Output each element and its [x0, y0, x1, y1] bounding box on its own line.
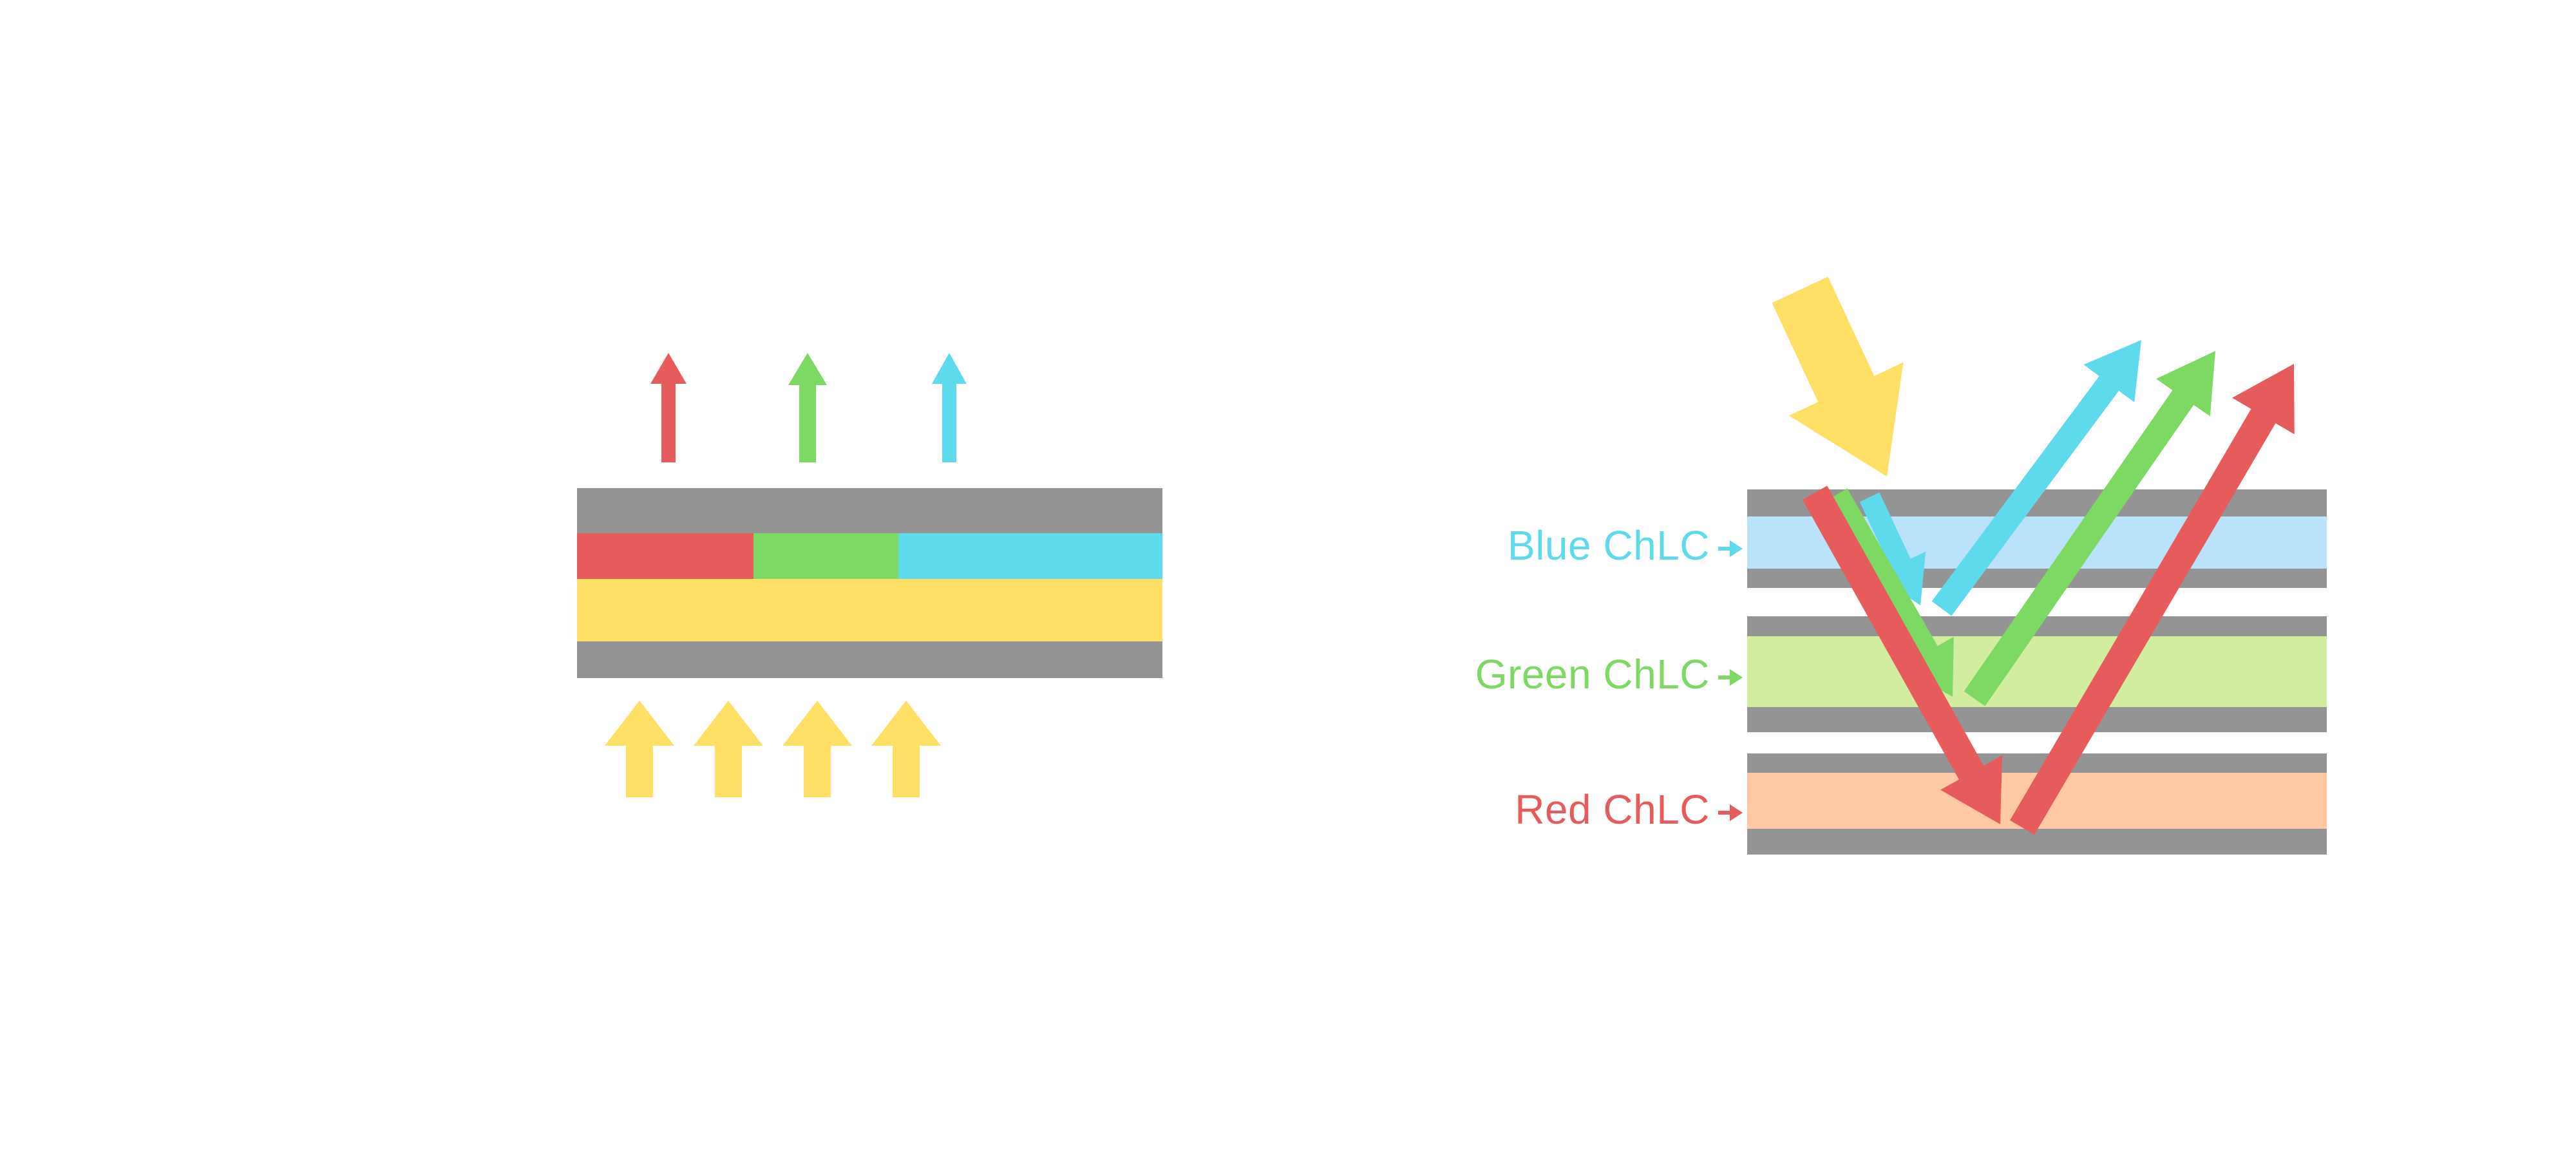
backlight-input-arrows-1	[605, 701, 674, 797]
blue-chlc-label-pointer-arrowhead	[1730, 540, 1743, 557]
layer-green-bottom-electrode	[1747, 707, 2327, 732]
layer-red-top-electrode	[1747, 753, 2327, 773]
layer-top-electrode	[577, 488, 1162, 533]
right-reflective-stack-panel	[1747, 277, 2327, 855]
green-chlc-label-pointer-arrowhead	[1730, 669, 1743, 686]
ambient-light-incident-arrow	[1772, 277, 1903, 477]
layer-green-chlc-layer	[1747, 636, 2327, 707]
backlight-input-arrows-4	[871, 701, 941, 797]
diagram-canvas: Blue ChLCGreen ChLCRed ChLC	[0, 0, 2576, 1154]
layer-label-group: Blue ChLCGreen ChLCRed ChLC	[1475, 522, 1743, 833]
layer-bottom-electrode	[577, 641, 1162, 678]
blue-chlc-label: Blue ChLC	[1508, 522, 1710, 569]
red-chlc-label: Red ChLC	[1515, 786, 1710, 833]
layer-color-filter-green	[753, 533, 898, 579]
layer-color-filter-red	[577, 533, 753, 579]
red-output-arrow	[650, 353, 687, 462]
layer-blue-bottom-electrode	[1747, 569, 2327, 588]
left-transmissive-stack-panel	[577, 353, 1162, 797]
layer-backlight-layer	[577, 579, 1162, 641]
red-chlc-label-pointer-arrowhead	[1730, 804, 1743, 821]
layer-gap-green-red	[1747, 732, 2327, 753]
layer-color-filter-blue	[898, 533, 1162, 579]
diagram-root: Blue ChLCGreen ChLCRed ChLC	[0, 0, 2576, 1154]
green-chlc-label: Green ChLC	[1475, 651, 1710, 697]
backlight-input-arrows-3	[782, 701, 852, 797]
backlight-input-arrows-2	[694, 701, 763, 797]
layer-red-bottom-electrode	[1747, 829, 2327, 855]
green-output-arrow	[788, 353, 827, 462]
blue-output-arrow	[932, 353, 967, 462]
